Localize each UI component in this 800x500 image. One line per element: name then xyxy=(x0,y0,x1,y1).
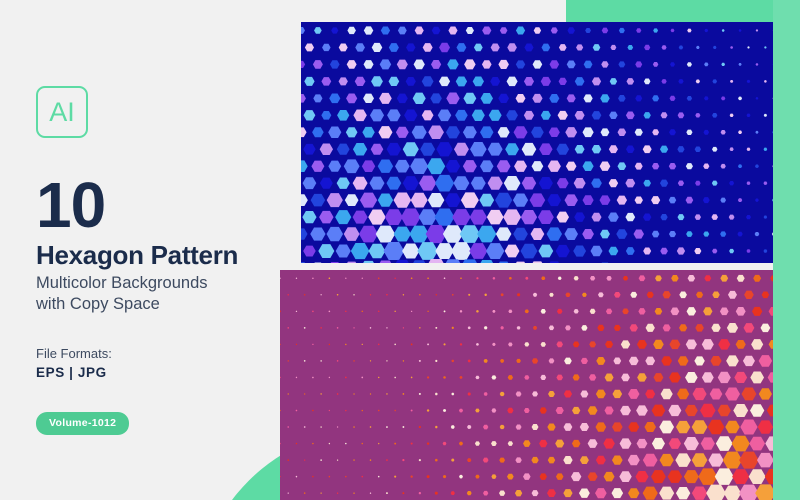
page-subtitle-line-1: Multicolor Backgrounds xyxy=(36,273,286,294)
blue-hexagon-preview[interactable] xyxy=(301,22,773,263)
page-subtitle: Multicolor Backgrounds with Copy Space xyxy=(36,273,286,315)
file-formats-value: EPS | JPG xyxy=(36,365,286,380)
page-subtitle-line-2: with Copy Space xyxy=(36,294,286,315)
item-count: 10 xyxy=(36,176,286,235)
file-formats-label: File Formats: xyxy=(36,345,286,363)
ai-format-badge: AI xyxy=(36,86,88,138)
purple-hexagon-preview[interactable] xyxy=(280,270,773,500)
info-column: AI 10 Hexagon Pattern Multicolor Backgro… xyxy=(36,86,286,435)
green-band-top xyxy=(566,0,800,22)
volume-badge: Volume-1012 xyxy=(36,412,129,435)
ai-badge-label: AI xyxy=(49,99,75,126)
green-band-right xyxy=(773,0,800,500)
poster-canvas: AI 10 Hexagon Pattern Multicolor Backgro… xyxy=(0,0,800,500)
page-title: Hexagon Pattern xyxy=(36,241,286,269)
